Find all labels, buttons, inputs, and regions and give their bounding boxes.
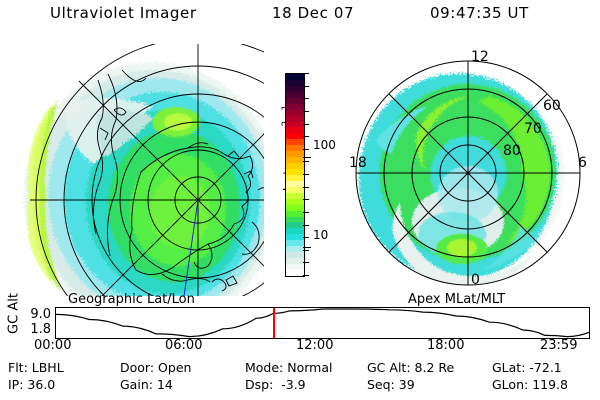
observation-date: 18 Dec 07 <box>272 4 354 22</box>
gc-alt-curve <box>56 308 589 338</box>
status-seq: Seq: 39 <box>367 377 415 392</box>
status-dsp: Dsp: -3.9 <box>245 377 306 392</box>
colorbar-tick-marks <box>303 73 311 275</box>
colorbar-tick <box>303 86 309 87</box>
orbit-xtick-1200: 12:00 <box>296 338 333 353</box>
status-value: 39 <box>399 377 415 392</box>
colorbar-tick <box>303 199 309 200</box>
status-flight-mode: Flt: LBHL <box>8 360 64 375</box>
observation-time: 09:47:35 UT <box>430 4 529 22</box>
colorbar-tick <box>303 161 309 162</box>
mlat-label-80: 80 <box>503 143 521 159</box>
status-label: GLat: <box>492 360 525 375</box>
magnetic-image-panel[interactable]: 12 6 0 18 60 70 80 <box>340 44 598 296</box>
status-label: Gain: <box>120 377 153 392</box>
colorbar-tick <box>303 149 309 150</box>
colorbar-tick <box>303 262 309 263</box>
status-value: 14 <box>157 377 173 392</box>
orbit-xtick-0000: 00:00 <box>34 338 71 353</box>
color-scale-bar[interactable] <box>285 73 305 277</box>
gc-alt-line <box>56 309 589 337</box>
status-value: Open <box>158 360 191 375</box>
status-footer: Flt: LBHL Door: Open Mode: Normal GC Alt… <box>0 360 600 400</box>
apex-mlat-mlt-aurora-image: 12 6 0 18 60 70 80 <box>340 44 598 296</box>
status-ip: IP: 36.0 <box>8 377 55 392</box>
mlt-label-6: 6 <box>578 155 587 171</box>
orbit-xtick-1800: 18:00 <box>427 338 464 353</box>
colorbar-tick-label-10: 10 <box>313 228 328 242</box>
colorbar-segment <box>286 270 304 276</box>
status-value: 36.0 <box>27 377 55 392</box>
status-label: IP: <box>8 377 23 392</box>
status-door: Door: Open <box>120 360 191 375</box>
colorbar-tick <box>303 73 309 74</box>
status-mode: Mode: Normal <box>245 360 333 375</box>
status-gain: Gain: 14 <box>120 377 173 392</box>
colorbar-tick <box>303 250 309 251</box>
magnetic-panel-title: Apex MLat/MLT <box>408 292 505 307</box>
status-label: Door: <box>120 360 154 375</box>
orbit-altitude-section: Geographic Lat/Lon Apex MLat/MLT GC Alt … <box>0 292 600 354</box>
colorbar-tick <box>303 212 309 213</box>
status-label: GC Alt: <box>367 360 411 375</box>
colorbar-tick <box>303 187 309 188</box>
mlt-label-0: 0 <box>471 272 480 288</box>
gc-alt-tick-high: 9.0 <box>19 307 51 322</box>
colorbar-tick <box>303 237 309 238</box>
geographic-aurora-image <box>2 44 264 296</box>
status-label: Mode: <box>245 360 283 375</box>
status-label: Flt: <box>8 360 28 375</box>
geographic-panel-title: Geographic Lat/Lon <box>68 292 195 307</box>
status-glat: GLat: -72.1 <box>492 360 562 375</box>
mlat-label-60: 60 <box>543 98 561 114</box>
status-label: Dsp: <box>245 377 273 392</box>
instrument-title: Ultraviolet Imager <box>50 4 197 22</box>
status-value: 8.2 Re <box>415 360 455 375</box>
mlt-label-18: 18 <box>349 155 367 171</box>
mlat-label-70: 70 <box>524 121 542 137</box>
colorbar-group: photon cm-2s-1 100 10 <box>262 60 340 290</box>
colorbar-tick <box>303 174 309 175</box>
status-label: GLon: <box>492 377 528 392</box>
colorbar-tick <box>303 124 309 125</box>
header-bar: Ultraviolet Imager 18 Dec 07 09:47:35 UT <box>0 4 600 34</box>
status-glon: GLon: 119.8 <box>492 377 568 392</box>
orbit-xtick-2359: 23:59 <box>540 338 577 353</box>
mlt-label-12: 12 <box>471 49 489 65</box>
colorbar-tick <box>303 275 309 276</box>
orbit-xtick-0600: 06:00 <box>165 338 202 353</box>
colorbar-tick <box>303 136 309 137</box>
status-value: -3.9 <box>281 377 305 392</box>
geographic-image-panel[interactable] <box>2 44 264 296</box>
colorbar-major-tick <box>303 247 311 248</box>
gc-alt-plot-area[interactable] <box>55 307 590 339</box>
status-label: Seq: <box>367 377 395 392</box>
status-value: -72.1 <box>529 360 561 375</box>
status-value: Normal <box>287 360 332 375</box>
status-value: LBHL <box>32 360 64 375</box>
current-time-marker <box>273 308 275 338</box>
status-value: 119.8 <box>532 377 568 392</box>
colorbar-tick-label-100: 100 <box>313 138 336 152</box>
colorbar-tick <box>303 98 309 99</box>
colorbar-tick <box>303 111 309 112</box>
gc-alt-tick-low: 1.8 <box>19 322 51 337</box>
status-gc-alt: GC Alt: 8.2 Re <box>367 360 454 375</box>
colorbar-tick <box>303 225 309 226</box>
colorbar-major-tick <box>303 157 311 158</box>
